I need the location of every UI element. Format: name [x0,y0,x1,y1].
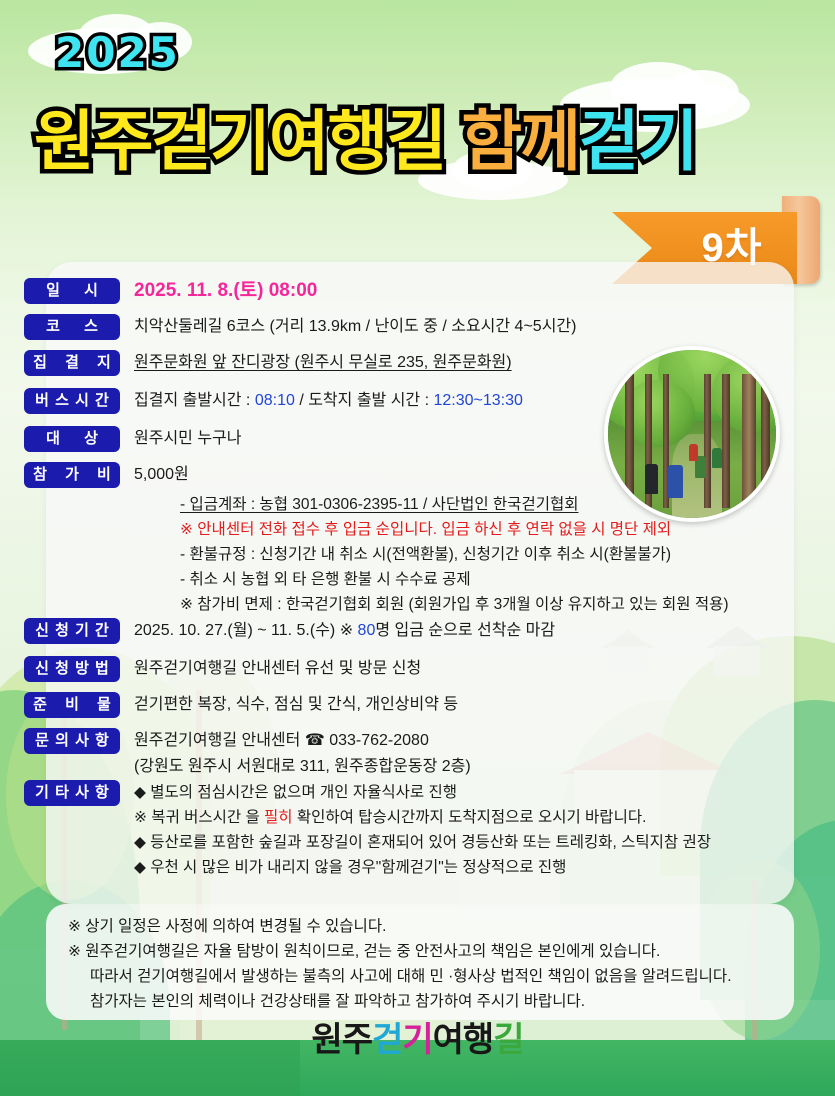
row-bus-schedule: 버 스 시 간 집결지 출발시간 : 08:10 / 도착지 출발 시간 : 1… [24,388,523,414]
row-what-to-bring: 준 비 물 걷기편한 복장, 식수, 점심 및 간식, 개인상비약 등 [24,692,458,718]
fee-account-text: - 입금계좌 : 농협 301-0306-2395-11 / 사단법인 한국걷기… [180,496,578,513]
fee-detail-line: - 취소 시 농협 외 타 은행 환불 시 수수료 공제 [180,567,729,592]
fee-detail-line: - 환불규정 : 신청기간 내 취소 시(전액환불), 신청기간 이후 취소 시… [180,542,729,567]
logo-part-yeohaeng: 여행 [433,1021,494,1059]
telephone-icon: ☎ [305,732,325,749]
reference-mark-icon: ※ [134,809,147,826]
bus-middle-text: / 도착지 출발 시간 : [295,392,434,409]
diamond-bullet-icon: ◆ [134,784,146,801]
value-contact: 원주걷기여행길 안내센터 ☎ 033-762-2080 (강원도 원주시 서원대… [134,728,471,780]
value-what-to-bring: 걷기편한 복장, 식수, 점심 및 간식, 개인상비약 등 [134,692,458,718]
fee-detail-list: - 입금계좌 : 농협 301-0306-2395-11 / 사단법인 한국걷기… [180,492,729,617]
other-note-text: 별도의 점심시간은 없으며 개인 자율식사로 진행 [146,784,457,801]
contact-line-1: 원주걷기여행길 안내센터 ☎ 033-762-2080 [134,728,471,754]
row-course: 코 스 치악산둘레길 6코스 (거리 13.9km / 난이도 중 / 소요시간… [24,314,576,340]
fee-detail-line: - 입금계좌 : 농협 301-0306-2395-11 / 사단법인 한국걷기… [180,492,729,517]
row-application-method: 신 청 방 법 원주걷기여행길 안내센터 유선 및 방문 신청 [24,656,421,682]
other-note-item: ◆ 등산로를 포함한 숲길과 포장길이 혼재되어 있어 경등산화 또는 트레킹화… [134,830,711,855]
value-course: 치악산둘레길 6코스 (거리 13.9km / 난이도 중 / 소요시간 4~5… [134,314,576,340]
contact-center-name: 원주걷기여행길 안내센터 [134,732,305,749]
logo-part-gi: 기 [402,1021,432,1059]
fee-detail-line: ※ 참가비 면제 : 한국걷기협회 회원 (회원가입 후 3개월 이상 유지하고… [180,592,729,617]
bus-depart-prefix: 집결지 출발시간 : [134,392,255,409]
value-application-method: 원주걷기여행길 안내센터 유선 및 방문 신청 [134,656,421,682]
row-fee: 참 가 비 5,000원 [24,462,189,488]
bus-return-time: 12:30~13:30 [433,392,522,409]
value-application-period: 2025. 10. 27.(월) ~ 11. 5.(수) ※ 80명 입금 순으… [134,618,555,644]
row-meeting-point: 집 결 지 원주문화원 앞 잔디광장 (원주시 무실로 235, 원주문화원) [24,350,512,376]
period-suffix: 명 입금 순으로 선착순 마감 [375,622,555,639]
diamond-bullet-icon: ◆ [134,834,146,851]
disclaimer-line: ※ 상기 일정은 사정에 의하여 변경될 수 있습니다. [68,914,794,939]
title-part-together: 함께 [461,104,578,178]
disclaimer-line: 따라서 걷기여행길에서 발생하는 불측의 사고에 대해 민 ·형사상 법적인 책… [68,964,794,989]
value-datetime: 2025. 11. 8.(토) 08:00 [134,278,317,304]
other-note-item: ◆ 우천 시 많은 비가 내리지 않을 경우"함께걷기"는 정상적으로 진행 [134,855,711,880]
label-meeting-point: 집 결 지 [24,350,120,376]
other-note-item: ◆ 별도의 점심시간은 없으며 개인 자율식사로 진행 [134,780,711,805]
row-contact: 문 의 사 항 원주걷기여행길 안내센터 ☎ 033-762-2080 (강원도… [24,728,471,780]
label-other-notes: 기 타 사 항 [24,780,120,806]
logo-part-gil: 길 [493,1021,523,1059]
brand-logo: 원주걷기여행길 [0,1012,835,1061]
fee-detail-line: ※ 안내센터 전화 접수 후 입금 순입니다. 입금 하신 후 연락 없을 시 … [180,517,729,542]
other-note-item: ※ 복귀 버스시간 을 필히 확인하여 탑승시간까지 도착지점으로 오시기 바랍… [134,805,711,830]
contact-address: (강원도 원주시 서원대로 311, 원주종합운동장 2층) [134,754,471,780]
label-application-period: 신 청 기 간 [24,618,120,644]
title-part-walk: 걷기 [579,104,696,178]
logo-part-wonju: 원주 [312,1021,373,1059]
title-space [445,104,461,178]
other-notes-list: ◆ 별도의 점심시간은 없으며 개인 자율식사로 진행 ※ 복귀 버스시간 을 … [134,780,711,880]
label-fee: 참 가 비 [24,462,120,488]
diamond-bullet-icon: ◆ [134,859,146,876]
row-target-audience: 대 상 원주시민 누구나 [24,426,242,452]
other-note-text: 우천 시 많은 비가 내리지 않을 경우"함께걷기"는 정상적으로 진행 [146,859,567,876]
title-part-walking-road: 원주걷기여행길 [34,104,445,178]
value-target-audience: 원주시민 누구나 [134,426,242,452]
value-bus-schedule: 집결지 출발시간 : 08:10 / 도착지 출발 시간 : 12:30~13:… [134,388,523,414]
bus-depart-time: 08:10 [255,392,295,409]
period-prefix: 2025. 10. 27.(월) ~ 11. 5.(수) ※ [134,622,358,639]
value-meeting-point: 원주문화원 앞 잔디광장 (원주시 무실로 235, 원주문화원) [134,350,512,376]
disclaimer-line: 참가자는 본인의 체력이나 건강상태를 잘 파악하고 참가하여 주시기 바랍니다… [68,989,794,1014]
other-note-emphasis: 필히 [264,809,293,826]
logo-part-geot: 걷 [372,1021,402,1059]
disclaimer-box: ※ 상기 일정은 사정에 의하여 변경될 수 있습니다. ※ 원주걷기여행길은 … [46,904,794,1020]
poster-title: 원주걷기여행길 함께걷기 [34,88,824,184]
year-label: 2025 [55,28,180,77]
label-contact: 문 의 사 항 [24,728,120,754]
disclaimer-line: ※ 원주걷기여행길은 자율 탐방이 원칙이므로, 걷는 중 안전사고의 책임은 … [68,939,794,964]
label-bus-schedule: 버 스 시 간 [24,388,120,414]
other-note-text: 복귀 버스시간 을 [147,809,264,826]
label-what-to-bring: 준 비 물 [24,692,120,718]
label-course: 코 스 [24,314,120,340]
row-application-period: 신 청 기 간 2025. 10. 27.(월) ~ 11. 5.(수) ※ 8… [24,618,555,644]
label-datetime: 일 시 [24,278,120,304]
row-other-notes: 기 타 사 항 ◆ 별도의 점심시간은 없으며 개인 자율식사로 진행 ※ 복귀… [24,780,711,880]
event-poster: 2025 원주걷기여행길 함께걷기 9차 일 시 2025. 11. [0,0,835,1096]
contact-phone-number[interactable]: 033-762-2080 [325,732,429,749]
value-fee-amount: 5,000원 [134,462,189,488]
label-application-method: 신 청 방 법 [24,656,120,682]
other-note-text: 확인하여 탑승시간까지 도착지점으로 오시기 바랍니다. [293,809,647,826]
period-capacity: 80 [358,622,376,639]
other-note-text: 등산로를 포함한 숲길과 포장길이 혼재되어 있어 경등산화 또는 트레킹화, … [146,834,711,851]
label-target-audience: 대 상 [24,426,120,452]
row-datetime: 일 시 2025. 11. 8.(토) 08:00 [24,278,317,304]
